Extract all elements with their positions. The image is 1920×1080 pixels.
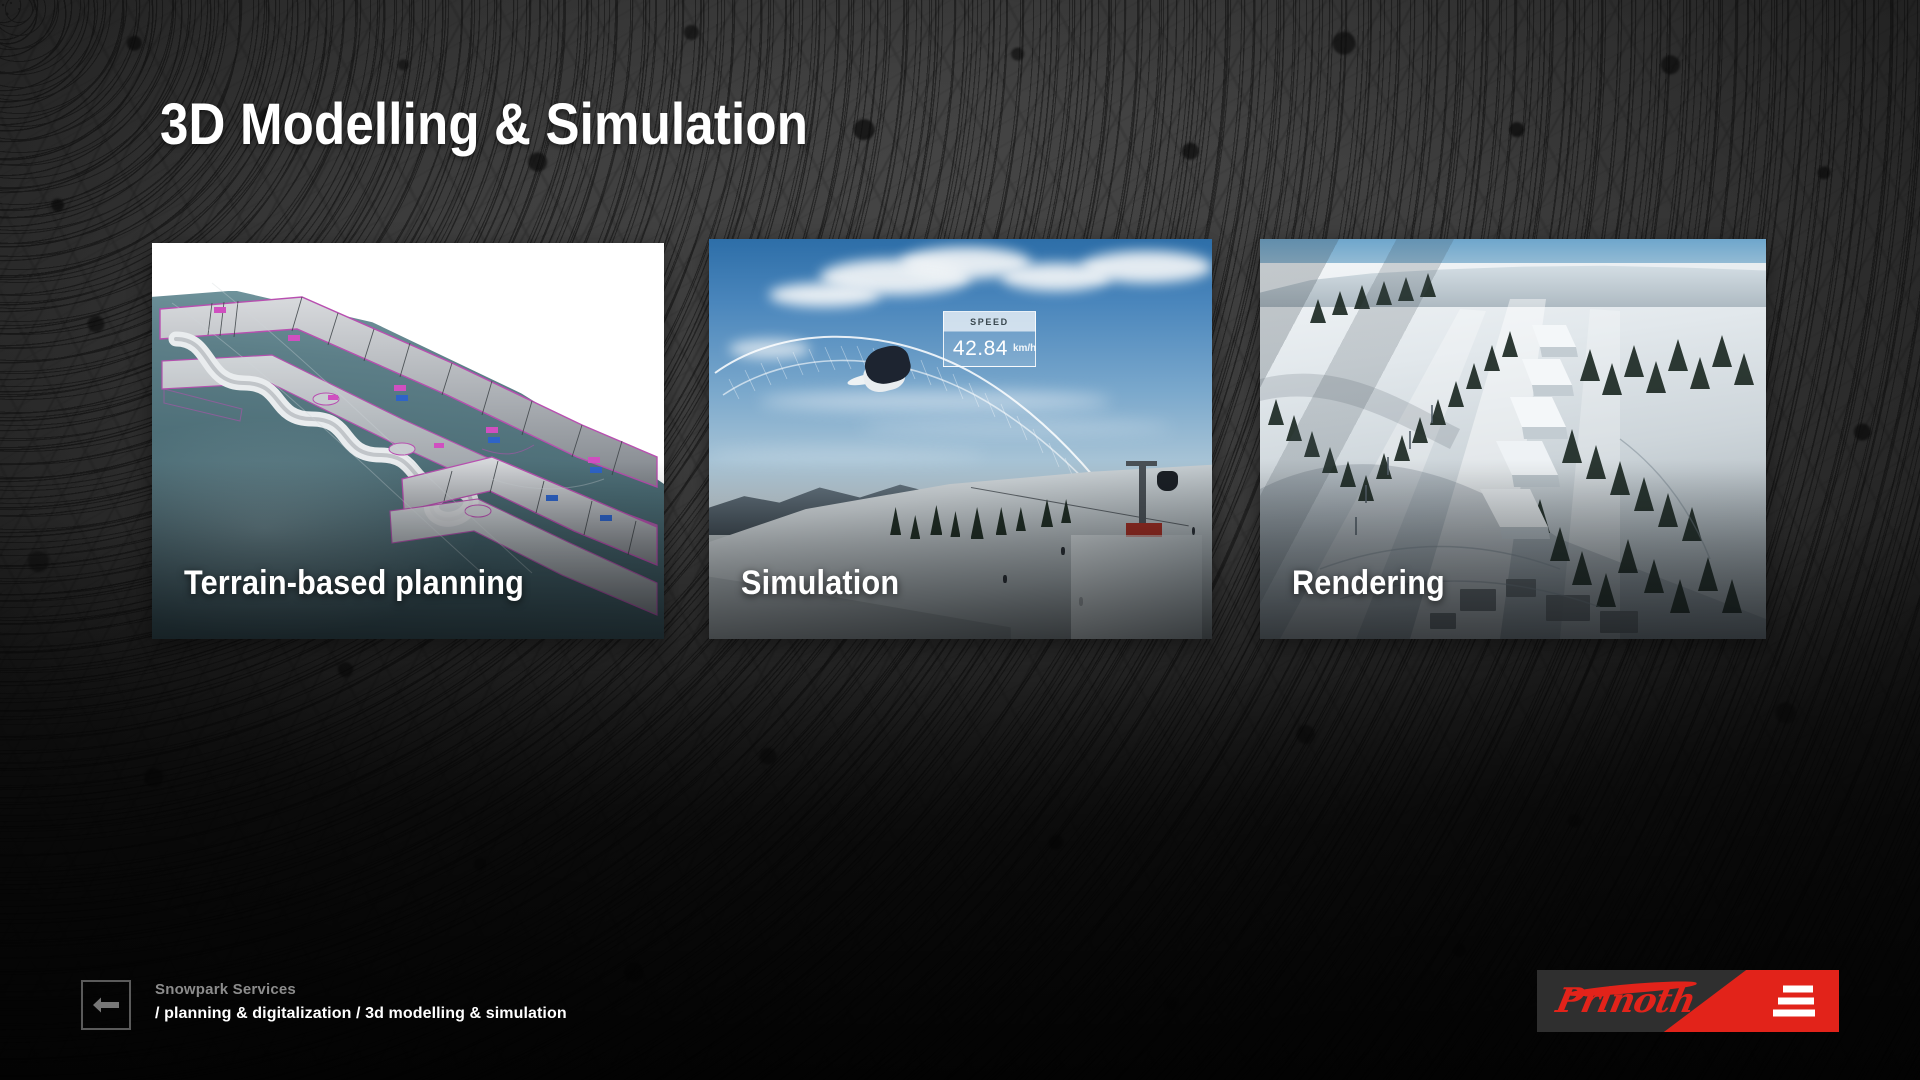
card-simulation[interactable]: SPEED 42.84 km/h Simulation: [709, 239, 1212, 639]
breadcrumb: Snowpark Services / planning & digitaliz…: [155, 979, 567, 1026]
back-button[interactable]: [81, 980, 131, 1030]
card-grid: Terrain-based planning: [0, 0, 1920, 1080]
arrow-left-icon: [93, 996, 119, 1014]
logo-wordmark: Prinoth: [1553, 981, 1699, 1021]
breadcrumb-path: / planning & digitalization / 3d modelli…: [155, 1002, 567, 1026]
prinoth-stepped-bars-icon: [1773, 986, 1815, 1017]
card-label: Simulation: [741, 564, 899, 603]
app-root: 3D Modelling & Simulation: [0, 0, 1920, 1080]
card-label: Terrain-based planning: [184, 564, 524, 603]
card-rendering[interactable]: Rendering: [1260, 239, 1766, 639]
prinoth-logo[interactable]: Prinoth: [1537, 970, 1839, 1032]
card-terrain-based-planning[interactable]: Terrain-based planning: [152, 243, 664, 639]
breadcrumb-root[interactable]: Snowpark Services: [155, 979, 567, 1002]
card-label: Rendering: [1292, 564, 1445, 603]
